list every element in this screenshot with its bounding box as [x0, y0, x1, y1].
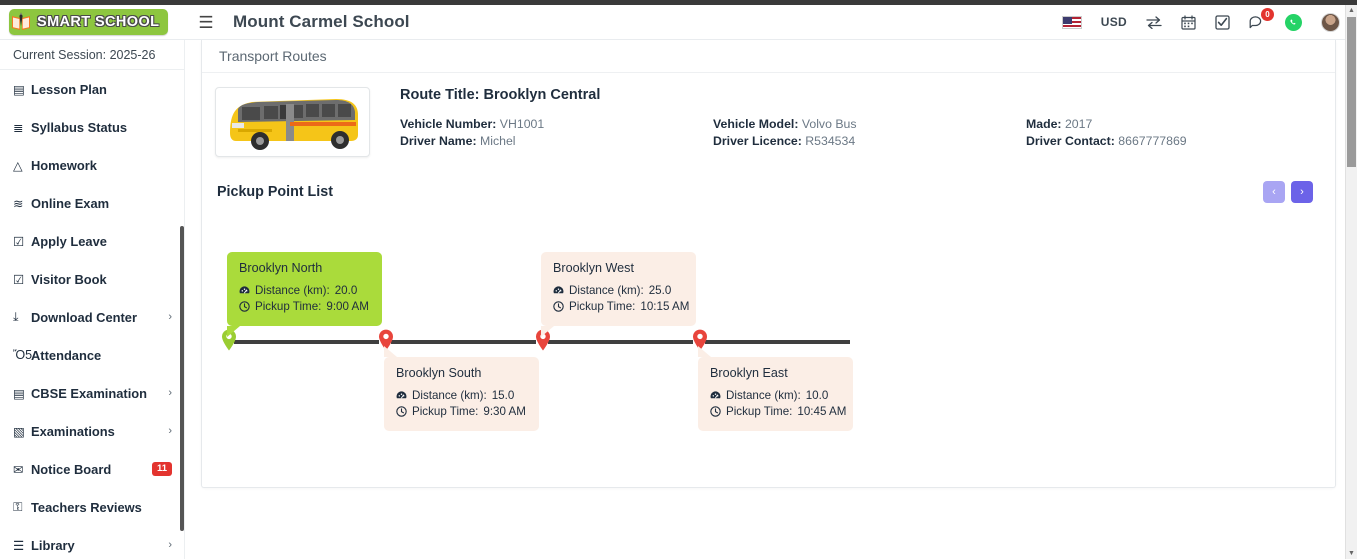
pickup-point-name: Brooklyn South — [396, 367, 527, 381]
lesson-plan-icon: ▤ — [13, 82, 31, 97]
page-scrollbar-track[interactable]: ▲ ▼ — [1345, 5, 1357, 559]
pickup-timeline: Brooklyn NorthDistance (km):20.0Pickup T… — [217, 214, 1317, 434]
route-details: Route Title: Brooklyn Central Vehicle Nu… — [370, 87, 1335, 157]
hamburger-icon[interactable]: ☰ — [193, 14, 219, 31]
exchange-arrows-icon[interactable] — [1146, 16, 1162, 29]
route-meta-column-1: Vehicle Number: VH1001Driver Name: Miche… — [400, 116, 713, 150]
route-meta-value: R534534 — [802, 134, 855, 148]
apply-leave-icon: ☑ — [13, 234, 31, 249]
sidebar-item-lesson-plan[interactable]: ▤Lesson Plan — [0, 70, 184, 108]
sidebar-item-label: Visitor Book — [31, 272, 107, 287]
pickup-distance-label: Distance (km): — [255, 283, 330, 299]
pickup-point-name: Brooklyn West — [553, 262, 684, 276]
sidebar-item-online-exam[interactable]: ≋Online Exam — [0, 184, 184, 222]
panel-header: Transport Routes — [202, 40, 1335, 73]
speedometer-icon — [239, 285, 250, 296]
route-meta-line: Driver Licence: R534534 — [713, 133, 1026, 149]
pickup-point-card[interactable]: Brooklyn NorthDistance (km):20.0Pickup T… — [227, 252, 382, 326]
route-meta-value: VH1001 — [496, 117, 544, 131]
pickup-distance-value: 15.0 — [492, 388, 515, 404]
route-summary: Route Title: Brooklyn Central Vehicle Nu… — [202, 73, 1335, 157]
sidebar-item-teachers-reviews[interactable]: ⚿Teachers Reviews — [0, 488, 184, 526]
teachers-reviews-icon: ⚿ — [13, 500, 31, 515]
route-meta-label: Made: — [1026, 117, 1062, 131]
card-tail — [698, 346, 711, 357]
language-flag-button[interactable] — [1062, 16, 1082, 29]
pickup-point-distance-row: Distance (km):20.0 — [239, 283, 370, 299]
pickup-point-time-row: Pickup Time:10:45 AM — [710, 404, 841, 420]
sidebar-item-cbse-examination[interactable]: ▤CBSE Examination› — [0, 374, 184, 412]
pickup-time-value: 10:45 AM — [797, 404, 846, 420]
logo-area[interactable]: SMART SCHOOL — [0, 5, 185, 39]
pickup-time-label: Pickup Time: — [726, 404, 792, 420]
chevron-right-icon: › — [168, 539, 172, 551]
clock-icon — [396, 406, 407, 417]
visitor-book-icon: ☑ — [13, 272, 31, 287]
current-session-label: Current Session: 2025-26 — [0, 40, 184, 70]
route-meta-column-3: Made: 2017Driver Contact: 8667777869 — [1026, 116, 1187, 150]
timeline-segment — [391, 340, 536, 344]
syllabus-status-icon: ≣ — [13, 120, 31, 135]
notice-board-icon: ✉ — [13, 462, 31, 477]
chevron-right-icon: › — [168, 425, 172, 437]
sidebar-item-label: Online Exam — [31, 196, 109, 211]
transport-routes-panel: Transport Routes — [201, 40, 1336, 488]
route-meta-label: Vehicle Model: — [713, 117, 798, 131]
whatsapp-icon[interactable] — [1285, 14, 1302, 31]
sidebar-item-label: Syllabus Status — [31, 120, 127, 135]
sidebar-item-download-center[interactable]: ⤓Download Center› — [0, 298, 184, 336]
main-content: Transport Routes — [185, 40, 1350, 559]
pickup-distance-value: 20.0 — [335, 283, 358, 299]
school-bus-photo[interactable] — [215, 87, 370, 157]
clock-icon — [553, 301, 564, 312]
route-meta-label: Vehicle Number: — [400, 117, 496, 131]
card-tail — [541, 326, 554, 337]
sidebar-item-label: Teachers Reviews — [31, 500, 142, 515]
route-meta-line: Vehicle Number: VH1001 — [400, 116, 713, 132]
sidebar-item-label: Lesson Plan — [31, 82, 107, 97]
app-header: SMART SCHOOL ☰ Mount Carmel School USD — [0, 5, 1357, 40]
route-meta-grid: Vehicle Number: VH1001Driver Name: Miche… — [400, 116, 1335, 150]
sidebar-item-label: Notice Board — [31, 462, 111, 477]
sidebar-item-syllabus-status[interactable]: ≣Syllabus Status — [0, 108, 184, 146]
online-exam-icon: ≋ — [13, 196, 31, 211]
pickup-section-title: Pickup Point List — [217, 184, 333, 200]
route-meta-column-2: Vehicle Model: Volvo BusDriver Licence: … — [713, 116, 1026, 150]
sidebar-item-homework[interactable]: △Homework — [0, 146, 184, 184]
sidebar-item-label: Homework — [31, 158, 97, 173]
pickup-distance-label: Distance (km): — [412, 388, 487, 404]
speedometer-icon — [710, 390, 721, 401]
attendance-icon: Ὄ5 — [13, 348, 31, 362]
pickup-time-value: 9:00 AM — [326, 299, 369, 315]
route-meta-value: 2017 — [1062, 117, 1093, 131]
route-meta-line: Driver Contact: 8667777869 — [1026, 133, 1187, 149]
scroll-down-arrow[interactable]: ▼ — [1347, 550, 1356, 557]
sidebar-item-label: Apply Leave — [31, 234, 107, 249]
timeline-segment — [705, 340, 850, 344]
pickup-next-button[interactable]: › — [1291, 181, 1313, 203]
pickup-point-card[interactable]: Brooklyn WestDistance (km):25.0Pickup Ti… — [541, 252, 696, 326]
route-meta-label: Driver Licence: — [713, 134, 802, 148]
chevron-right-icon: › — [168, 387, 172, 399]
sidebar-item-label: Examinations — [31, 424, 115, 439]
examinations-icon: ▧ — [13, 424, 31, 439]
route-meta-label: Driver Name: — [400, 134, 477, 148]
sidebar-item-notice-board[interactable]: ✉Notice Board11 — [0, 450, 184, 488]
pickup-distance-label: Distance (km): — [569, 283, 644, 299]
pickup-time-value: 10:15 AM — [640, 299, 689, 315]
exchange-arrows-glyph — [1146, 16, 1162, 29]
pickup-time-label: Pickup Time: — [255, 299, 321, 315]
route-meta-label: Driver Contact: — [1026, 134, 1115, 148]
sidebar-item-library[interactable]: ☰Library› — [0, 526, 184, 559]
sidebar-item-label: Attendance — [31, 348, 101, 363]
pickup-distance-value: 25.0 — [649, 283, 672, 299]
clock-icon — [239, 301, 250, 312]
pickup-section-header: Pickup Point List ‹ › — [202, 157, 1335, 203]
pickup-point-card[interactable]: Brooklyn EastDistance (km):10.0Pickup Ti… — [698, 357, 853, 431]
sidebar-item-examinations[interactable]: ▧Examinations› — [0, 412, 184, 450]
sidebar-scrollbar[interactable] — [180, 226, 184, 531]
scroll-up-arrow[interactable]: ▲ — [1347, 7, 1356, 14]
download-center-icon: ⤓ — [13, 310, 31, 325]
sidebar: Current Session: 2025-26 ▤Lesson Plan≣Sy… — [0, 40, 185, 559]
cbse-examination-icon: ▤ — [13, 386, 31, 401]
pickup-point-time-row: Pickup Time:9:30 AM — [396, 404, 527, 420]
sidebar-item-badge: 11 — [152, 462, 172, 476]
smart-school-logo[interactable]: SMART SCHOOL — [9, 9, 168, 35]
route-title-label: Route Title: — [400, 87, 479, 103]
pickup-distance-label: Distance (km): — [726, 388, 801, 404]
route-title-value: Brooklyn Central — [484, 87, 601, 103]
pickup-point-name: Brooklyn East — [710, 367, 841, 381]
us-flag-icon — [1062, 16, 1082, 29]
header-actions: USD 0 — [1062, 5, 1357, 39]
sidebar-nav-list: ▤Lesson Plan≣Syllabus Status△Homework≋On… — [0, 70, 184, 559]
clock-icon — [710, 406, 721, 417]
homework-icon: △ — [13, 158, 31, 173]
library-icon: ☰ — [13, 538, 31, 553]
pickup-point-distance-row: Distance (km):15.0 — [396, 388, 527, 404]
timeline-segment — [548, 340, 693, 344]
pickup-prev-button[interactable]: ‹ — [1263, 181, 1285, 203]
logo-text: SMART SCHOOL — [37, 14, 159, 30]
card-tail — [384, 346, 397, 357]
currency-selector[interactable]: USD — [1101, 15, 1127, 29]
panel-title: Transport Routes — [219, 48, 327, 64]
route-meta-line: Vehicle Model: Volvo Bus — [713, 116, 1026, 132]
pickup-point-time-row: Pickup Time:9:00 AM — [239, 299, 370, 315]
route-title: Route Title: Brooklyn Central — [400, 87, 1335, 103]
speedometer-icon — [553, 285, 564, 296]
calendar-icon[interactable] — [1181, 15, 1196, 30]
pickup-point-distance-row: Distance (km):10.0 — [710, 388, 841, 404]
sidebar-item-attendance[interactable]: Ὄ5Attendance — [0, 336, 184, 374]
book-pen-icon — [9, 10, 33, 34]
pickup-point-name: Brooklyn North — [239, 262, 370, 276]
speedometer-icon — [396, 390, 407, 401]
route-meta-value: Volvo Bus — [798, 117, 856, 131]
pickup-time-value: 9:30 AM — [483, 404, 526, 420]
timeline-segment — [234, 340, 379, 344]
sidebar-item-label: Library — [31, 538, 75, 553]
chevron-right-icon: › — [168, 311, 172, 323]
page-title: Mount Carmel School — [233, 12, 410, 32]
chat-unread-badge: 0 — [1261, 8, 1274, 21]
card-tail — [227, 326, 240, 337]
sidebar-item-label: Download Center — [31, 310, 137, 325]
route-meta-value: Michel — [477, 134, 516, 148]
pickup-pager: ‹ › — [1263, 181, 1313, 203]
user-avatar[interactable] — [1321, 13, 1340, 32]
pickup-point-time-row: Pickup Time:10:15 AM — [553, 299, 684, 315]
checkbox-icon[interactable] — [1215, 15, 1230, 30]
page-scrollbar-thumb[interactable] — [1347, 17, 1356, 167]
pickup-point-distance-row: Distance (km):25.0 — [553, 283, 684, 299]
pickup-time-label: Pickup Time: — [412, 404, 478, 420]
sidebar-item-label: CBSE Examination — [31, 386, 147, 401]
pickup-time-label: Pickup Time: — [569, 299, 635, 315]
pickup-distance-value: 10.0 — [806, 388, 829, 404]
sidebar-item-apply-leave[interactable]: ☑Apply Leave — [0, 222, 184, 260]
route-meta-line: Driver Name: Michel — [400, 133, 713, 149]
route-meta-value: 8667777869 — [1115, 134, 1187, 148]
route-meta-line: Made: 2017 — [1026, 116, 1187, 132]
pickup-point-card[interactable]: Brooklyn SouthDistance (km):15.0Pickup T… — [384, 357, 539, 431]
chat-bubble-icon[interactable]: 0 — [1249, 15, 1266, 30]
sidebar-item-visitor-book[interactable]: ☑Visitor Book — [0, 260, 184, 298]
